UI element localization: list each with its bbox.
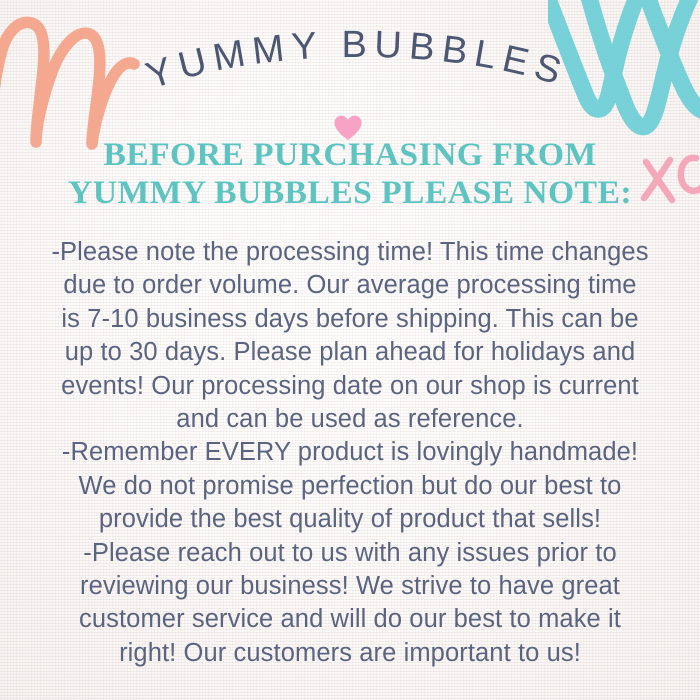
body-line: reviewing our business! We strive to hav… (18, 570, 682, 603)
body-line: and can be used as reference. (18, 403, 682, 436)
body-line: is 7-10 business days before shipping. T… (18, 303, 682, 336)
heading-line-1: BEFORE PURCHASING FROM (0, 136, 700, 174)
heading-line-2: YUMMY BUBBLES PLEASE NOTE: (0, 174, 700, 212)
brand-logo-arc: YUMMY BUBBLES (0, 8, 700, 138)
body-line: -Remember EVERY product is lovingly hand… (18, 436, 682, 469)
policy-graphic-canvas: YUMMY BUBBLES BEFORE PURCHASING FROM YUM… (0, 0, 700, 700)
body-line: events! Our processing date on our shop … (18, 370, 682, 403)
body-line: up to 30 days. Please plan ahead for hol… (18, 336, 682, 369)
body-line: due to order volume. Our average process… (18, 269, 682, 302)
body-line: -Please reach out to us with any issues … (18, 537, 682, 570)
body-line: We do not promise perfection but do our … (18, 470, 682, 503)
body-line: customer service and will do our best to… (18, 603, 682, 636)
heading-block: BEFORE PURCHASING FROM YUMMY BUBBLES PLE… (0, 136, 700, 212)
body-line: right! Our customers are important to us… (18, 637, 682, 670)
body-line: provide the best quality of product that… (18, 503, 682, 536)
policy-body-text: -Please note the processing time! This t… (18, 236, 682, 670)
body-line: -Please note the processing time! This t… (18, 236, 682, 269)
brand-logo-text: YUMMY BUBBLES (141, 24, 572, 98)
